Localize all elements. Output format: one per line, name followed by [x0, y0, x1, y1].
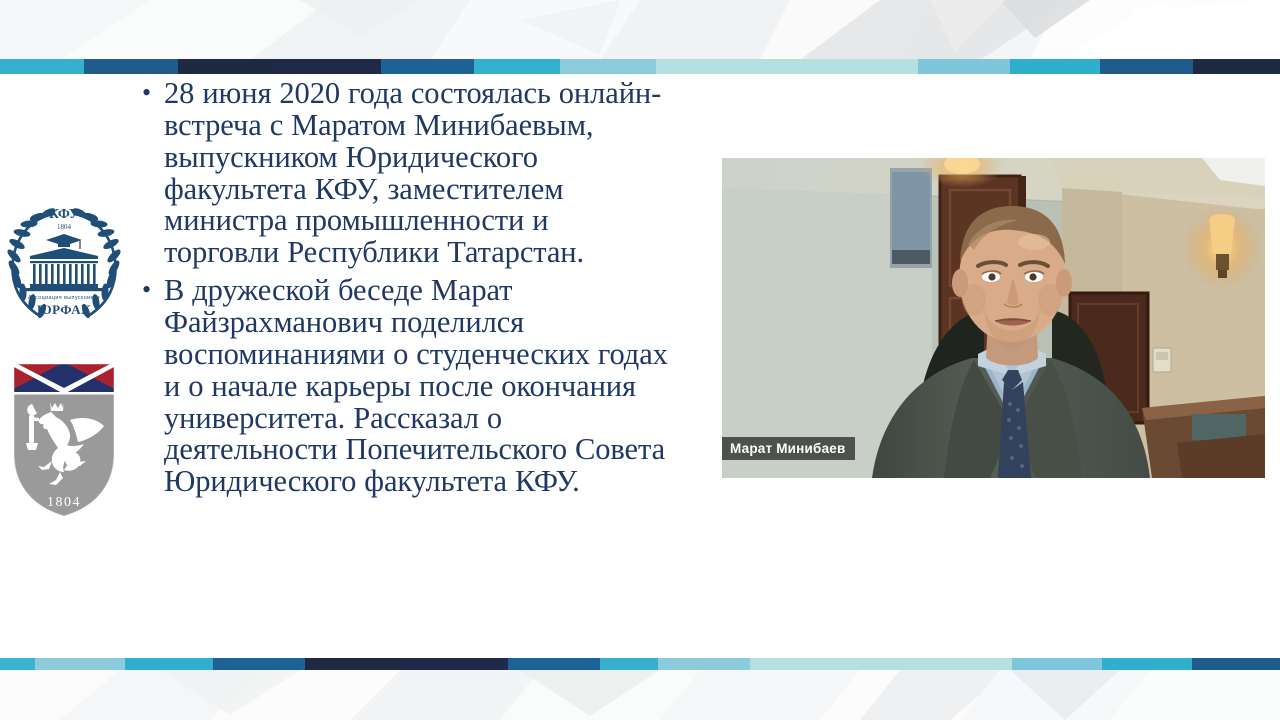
shield-year-text: 1804: [47, 495, 81, 510]
university-building-icon: [26, 248, 102, 291]
video-call-screenshot: Марат Минибаев: [722, 158, 1265, 478]
top-stripe-bar: [0, 59, 1280, 74]
bottom-stripe-segment-9: [658, 658, 750, 671]
top-stripe-segment-1: [0, 59, 84, 74]
video-participant-name-tag: Марат Минибаев: [722, 437, 855, 460]
top-stripe-segment-5: [381, 59, 474, 74]
bottom-stripe-segment-5: [305, 658, 403, 671]
emblem-association-text: Ассоциация выпускников: [28, 295, 100, 301]
top-stripe-segment-11: [1100, 59, 1193, 74]
top-stripe-segment-2: [84, 59, 178, 74]
kfu-coat-of-arms-icon: 1804: [8, 358, 120, 520]
presentation-slide: КФУ 1804: [0, 0, 1280, 720]
top-stripe-segment-6: [474, 59, 560, 74]
bottom-stripe-segment-4: [213, 658, 305, 671]
top-stripe-segment-4: [273, 59, 381, 74]
bottom-stripe-bar: [0, 658, 1280, 671]
top-stripe-segment-7: [560, 59, 656, 74]
top-stripe-segment-3: [178, 59, 273, 74]
bullet-item-2: В дружеской беседе Марат Файзрахманович …: [138, 275, 668, 498]
kfu-alumni-law-faculty-emblem-icon: КФУ 1804: [6, 198, 122, 324]
emblem-year-text: 1804: [57, 223, 72, 231]
bullet-item-1: 28 июня 2020 года состоялась онлайн-встр…: [138, 78, 668, 269]
bottom-stripe-segment-3: [125, 658, 213, 671]
top-stripe-segment-9: [918, 59, 1010, 74]
bottom-stripe-segment-8: [600, 658, 658, 671]
bullet-list: 28 июня 2020 года состоялась онлайн-встр…: [138, 78, 668, 498]
top-stripe-segment-8: [656, 59, 918, 74]
top-stripe-segment-10: [1010, 59, 1100, 74]
bottom-stripe-segment-11: [1012, 658, 1102, 671]
top-polygon-decoration: [0, 0, 1280, 60]
bottom-stripe-segment-12: [1102, 658, 1192, 671]
bottom-stripe-segment-1: [0, 658, 35, 671]
emblem-kfu-text: КФУ: [49, 207, 79, 222]
top-stripe-segment-12: [1193, 59, 1280, 74]
slide-body-text: 28 июня 2020 года состоялась онлайн-встр…: [138, 78, 668, 504]
graduation-cap-icon: [46, 234, 82, 249]
bottom-stripe-segment-10: [750, 658, 1012, 671]
bottom-stripe-segment-2: [35, 658, 125, 671]
bottom-stripe-segment-7: [508, 658, 600, 671]
emblem-urfak-text: ЮРФАК: [37, 302, 91, 317]
bottom-stripe-segment-6: [403, 658, 508, 671]
bottom-polygon-decoration: [0, 670, 1280, 720]
bottom-stripe-segment-13: [1192, 658, 1280, 671]
